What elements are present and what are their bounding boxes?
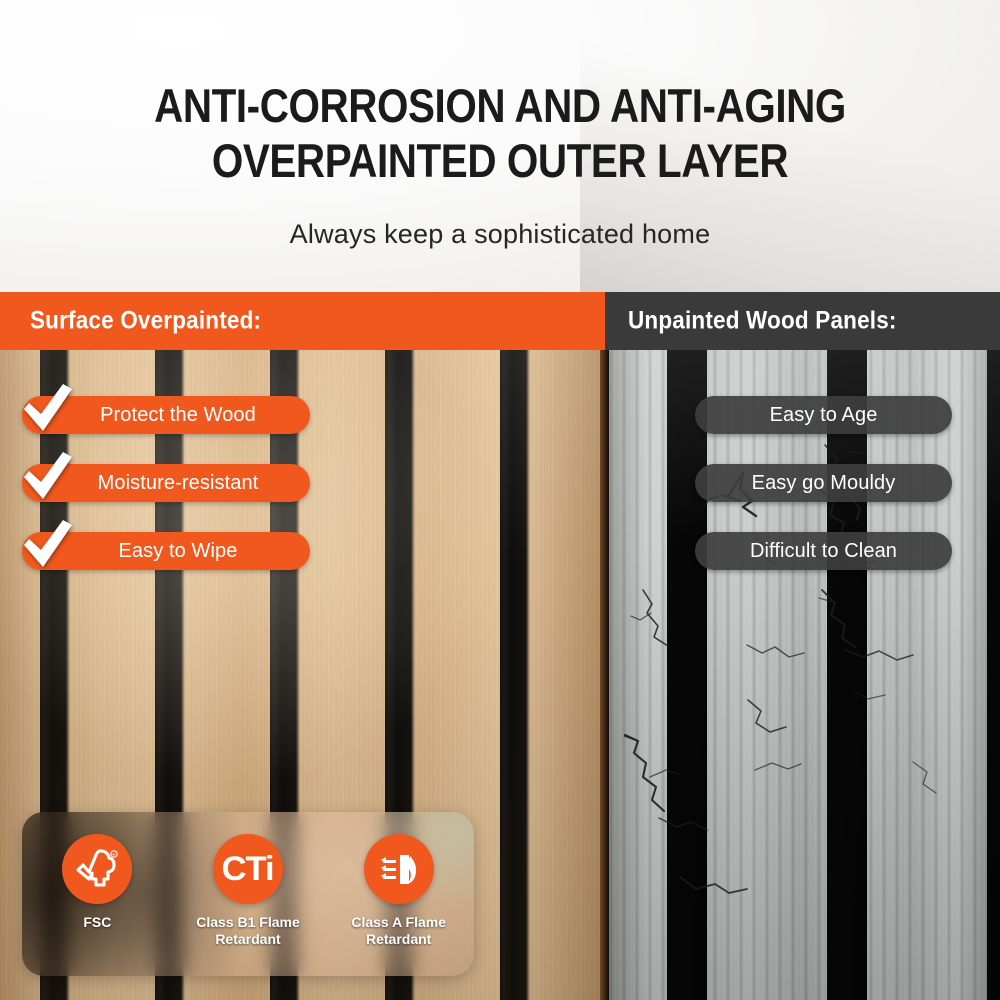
title-line-2: OVERPAINTED OUTER LAYER: [70, 133, 930, 188]
flame-panel-icon: [377, 847, 421, 891]
fsc-badge-circle: R: [62, 834, 132, 904]
title-line-1: ANTI-CORROSION AND ANTI-AGING: [70, 78, 930, 133]
feature-pill-protect-the-wood[interactable]: Protect the Wood: [22, 396, 310, 434]
drawback-pill-easy-go-mouldy[interactable]: Easy go Mouldy: [695, 464, 952, 502]
crack-overlay: [607, 350, 1000, 1000]
badge-label-line-2: Retardant: [196, 931, 300, 948]
badge-label: Class B1 Flame Retardant: [196, 914, 300, 948]
cti-badge-circle: CTi: [213, 834, 283, 904]
drawback-pill-label: Difficult to Clean: [695, 540, 952, 563]
right-band-label: Unpainted Wood Panels:: [628, 307, 897, 336]
right-band-header: Unpainted Wood Panels:: [605, 292, 1000, 350]
cti-text-icon: CTi: [222, 852, 274, 886]
feature-pill-easy-to-wipe[interactable]: Easy to Wipe: [22, 532, 310, 570]
badge-class-a-flame-retardant[interactable]: Class A Flame Retardant: [323, 812, 474, 976]
left-band-label: Surface Overpainted:: [30, 307, 261, 336]
check-icon: [16, 379, 78, 441]
flame-badge-circle: [364, 834, 434, 904]
product-feature-image: ANTI-CORROSION AND ANTI-AGING OVERPAINTE…: [0, 0, 1000, 1000]
certification-badge-list: R FSC CTi Class B1 Flame Retardant: [22, 812, 474, 976]
left-band-header: Surface Overpainted:: [0, 292, 605, 350]
header-section: ANTI-CORROSION AND ANTI-AGING OVERPAINTE…: [0, 0, 1000, 292]
drawback-pill-label: Easy to Age: [695, 404, 952, 427]
badge-label: Class A Flame Retardant: [351, 914, 446, 948]
svg-text:R: R: [113, 852, 116, 857]
certification-panel: R FSC CTi Class B1 Flame Retardant: [22, 812, 474, 976]
drawback-pill-difficult-to-clean[interactable]: Difficult to Clean: [695, 532, 952, 570]
page-subtitle: Always keep a sophisticated home: [0, 219, 1000, 250]
badge-label-line-1: Class A Flame: [351, 914, 446, 931]
feature-pill-moisture-resistant[interactable]: Moisture-resistant: [22, 464, 310, 502]
drawback-pill-label: Easy go Mouldy: [695, 472, 952, 495]
badge-label: FSC: [83, 914, 111, 931]
badge-fsc[interactable]: R FSC: [22, 812, 173, 976]
check-icon: [16, 447, 78, 509]
badge-label-line-2: Retardant: [351, 931, 446, 948]
check-icon: [16, 515, 78, 577]
page-title: ANTI-CORROSION AND ANTI-AGING OVERPAINTE…: [70, 78, 930, 188]
badge-label-line-1: Class B1 Flame: [196, 914, 300, 931]
badge-class-b1-flame-retardant[interactable]: CTi Class B1 Flame Retardant: [173, 812, 324, 976]
fsc-tree-icon: R: [74, 846, 120, 892]
drawback-pill-easy-to-age[interactable]: Easy to Age: [695, 396, 952, 434]
